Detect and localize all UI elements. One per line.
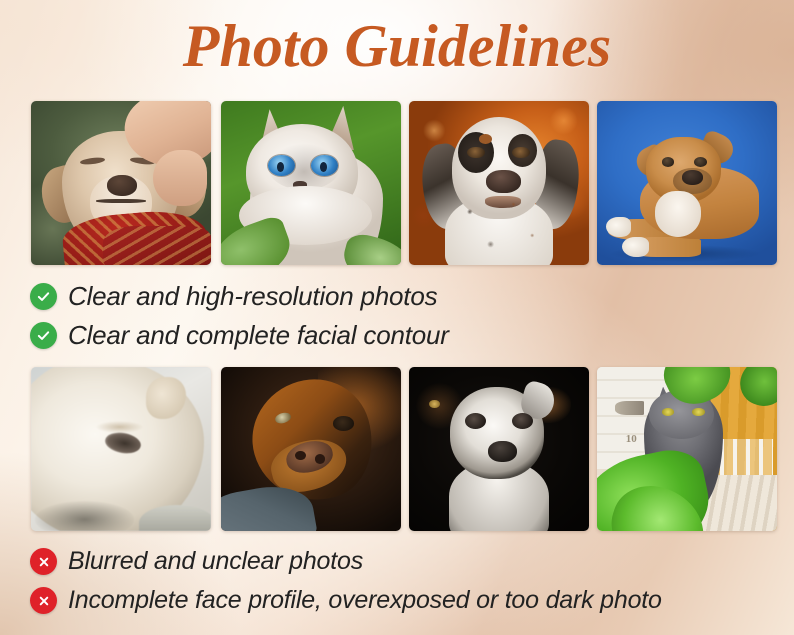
bad-photo-obscured-cat: 10 — [597, 367, 777, 531]
bench-sign-number: 10 — [626, 433, 637, 445]
bad-rule-label: Blurred and unclear photos — [68, 547, 363, 576]
good-photo-dog-bandana — [31, 101, 211, 265]
bad-photo-too-dark-dog — [409, 367, 589, 531]
good-photo-staffy-puppy — [597, 101, 777, 265]
good-rule-label: Clear and high-resolution photos — [68, 281, 437, 312]
good-rules-list: Clear and high-resolution photos Clear a… — [30, 277, 449, 355]
photo-guidelines-page: Photo Guidelines — [0, 0, 794, 635]
page-title: Photo Guidelines — [0, 12, 794, 81]
good-photo-ragdoll-cat — [221, 101, 401, 265]
good-photo-english-setter — [409, 101, 589, 265]
good-examples-photo-row — [31, 101, 763, 265]
check-circle-icon — [30, 322, 57, 349]
good-rule-item: Clear and complete facial contour — [30, 316, 449, 355]
x-circle-icon — [30, 587, 57, 614]
check-circle-icon — [30, 283, 57, 310]
bad-rules-list: Blurred and unclear photos Incomplete fa… — [30, 542, 662, 620]
bad-rule-item: Incomplete face profile, overexposed or … — [30, 581, 662, 620]
bad-rule-item: Blurred and unclear photos — [30, 542, 662, 581]
good-rule-item: Clear and high-resolution photos — [30, 277, 449, 316]
good-rule-label: Clear and complete facial contour — [68, 320, 449, 351]
bad-photo-blurry-dog — [31, 367, 211, 531]
bad-rule-label: Incomplete face profile, overexposed or … — [68, 586, 662, 615]
bad-examples-photo-row: 10 — [31, 367, 763, 531]
x-circle-icon — [30, 548, 57, 575]
bad-photo-tilted-dog — [221, 367, 401, 531]
